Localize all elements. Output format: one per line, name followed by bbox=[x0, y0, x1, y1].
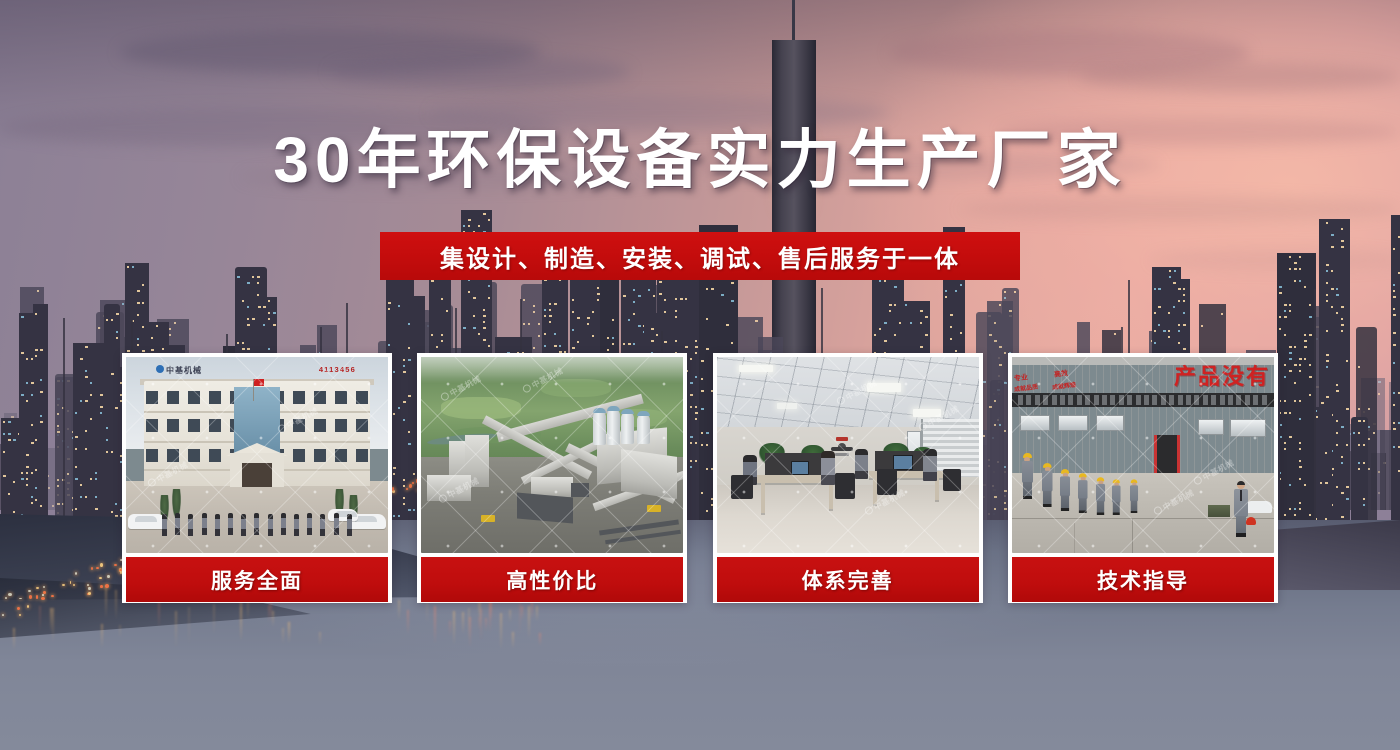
building bbox=[19, 313, 34, 530]
photo-office-interior: 中基机械 中基机械 中基机械 bbox=[717, 357, 979, 553]
staff-figure bbox=[307, 513, 312, 535]
shore-light bbox=[28, 590, 30, 592]
worker-figure bbox=[1112, 479, 1121, 515]
feature-card-row: 中基机械 4113456 中基机械 中基机械 服务全面 bbox=[122, 353, 1278, 603]
building-antenna bbox=[1314, 289, 1316, 530]
card-caption: 高性价比 bbox=[421, 557, 683, 602]
shore-light bbox=[42, 594, 44, 596]
building-antenna bbox=[63, 318, 65, 530]
staff-figure bbox=[228, 513, 233, 535]
banner-stage: 30年环保设备实力生产厂家 集设计、制造、安装、调试、售后服务于一体 bbox=[0, 0, 1400, 750]
shore-light bbox=[91, 567, 93, 570]
staff-figure bbox=[188, 514, 193, 536]
shore-light bbox=[51, 595, 53, 597]
building-phone-text: 4113456 bbox=[319, 365, 356, 374]
worker-figure bbox=[1096, 477, 1105, 515]
shore-light bbox=[100, 563, 103, 567]
staff-figure bbox=[241, 514, 246, 536]
staff-figure bbox=[334, 513, 339, 535]
worker-figure bbox=[1130, 479, 1138, 513]
instructor-figure bbox=[1234, 481, 1248, 537]
shore-light bbox=[105, 584, 109, 588]
feature-card[interactable]: 产品没有 专业 成就品质 高效 成就辉煌 bbox=[1008, 353, 1278, 603]
shore-light bbox=[100, 585, 103, 588]
building bbox=[1351, 417, 1368, 530]
photo-company-headquarters: 中基机械 4113456 中基机械 中基机械 bbox=[126, 357, 388, 553]
shore-light bbox=[73, 584, 75, 586]
staff-figure bbox=[268, 514, 273, 536]
factory-slogan-text: 产品没有 bbox=[1174, 359, 1270, 391]
staff-figure bbox=[294, 514, 299, 536]
shore-light bbox=[114, 564, 116, 567]
card-caption: 体系完善 bbox=[717, 557, 979, 602]
building bbox=[33, 304, 47, 530]
staff-figure bbox=[281, 513, 286, 535]
staff-figure bbox=[202, 513, 207, 535]
building bbox=[1391, 215, 1400, 530]
shore-light bbox=[19, 614, 21, 616]
feature-card[interactable]: 中基机械 4113456 中基机械 中基机械 服务全面 bbox=[122, 353, 392, 603]
red-helmet-icon bbox=[1246, 517, 1256, 525]
flag-icon bbox=[254, 379, 264, 386]
staff-figure bbox=[320, 514, 325, 536]
building bbox=[1277, 253, 1316, 530]
worker-figure bbox=[1078, 473, 1088, 513]
page-title: 30年环保设备实力生产厂家 bbox=[0, 128, 1400, 193]
shore-light bbox=[5, 597, 7, 599]
shore-light bbox=[2, 614, 4, 616]
staff-figure bbox=[215, 514, 220, 536]
shore-light bbox=[41, 597, 45, 600]
shore-light bbox=[88, 587, 90, 590]
staff-figure bbox=[162, 514, 167, 536]
staff-figure bbox=[254, 513, 259, 535]
building-sign-text: 中基机械 bbox=[166, 365, 202, 376]
subtitle-banner: 集设计、制造、安装、调试、售后服务于一体 bbox=[380, 232, 1020, 280]
shore-light bbox=[88, 592, 92, 595]
staff-figure bbox=[175, 513, 180, 535]
photo-aerial-industrial-plant: 中基机械 中基机械 中基机械 bbox=[421, 357, 683, 553]
worker-figure bbox=[1042, 463, 1053, 507]
feature-card[interactable]: 中基机械 中基机械 中基机械 高性价比 bbox=[417, 353, 687, 603]
feature-card[interactable]: 中基机械 中基机械 中基机械 体系完善 bbox=[713, 353, 983, 603]
shore-light bbox=[8, 593, 12, 596]
staff-figure bbox=[347, 514, 352, 536]
shore-light bbox=[70, 581, 72, 584]
building bbox=[73, 343, 105, 530]
company-logo-icon bbox=[156, 365, 164, 373]
card-caption: 服务全面 bbox=[126, 557, 388, 602]
card-caption: 技术指导 bbox=[1012, 557, 1274, 602]
photo-workers-lineup: 产品没有 专业 成就品质 高效 成就辉煌 bbox=[1012, 357, 1274, 553]
worker-figure bbox=[1022, 453, 1033, 499]
worker-figure bbox=[1060, 469, 1070, 511]
shore-light bbox=[27, 605, 29, 608]
shore-light bbox=[43, 586, 45, 588]
